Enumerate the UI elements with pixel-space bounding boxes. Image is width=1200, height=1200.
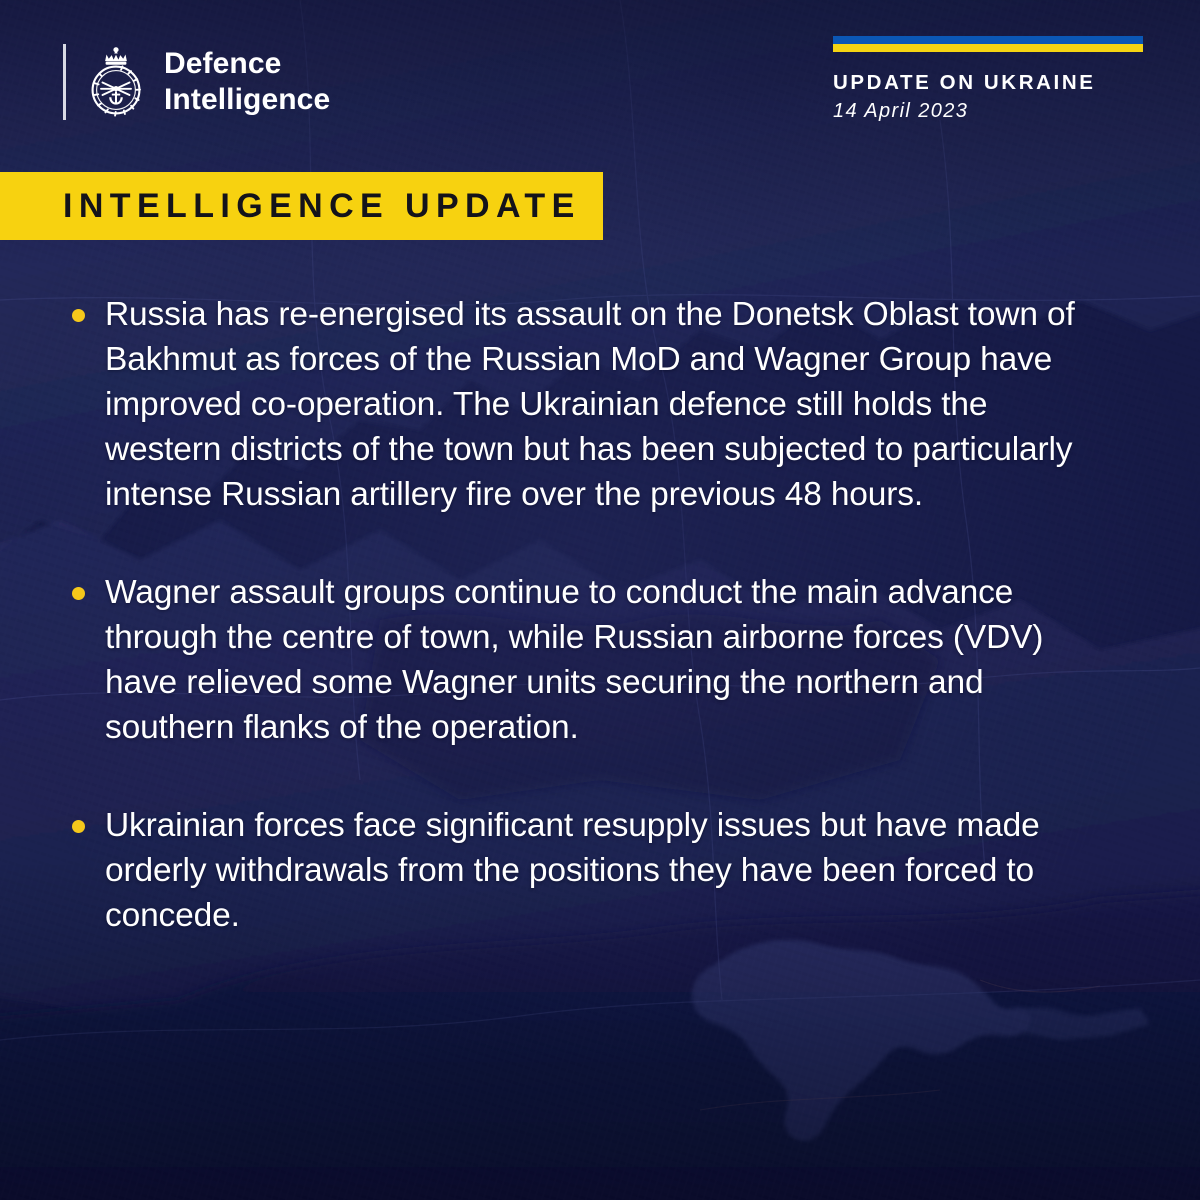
brand-title: Defence Intelligence [164, 46, 330, 118]
list-item: Russia has re-energised its assault on t… [63, 292, 1093, 517]
bullet-text: Wagner assault groups continue to conduc… [105, 570, 1093, 750]
update-kicker: UPDATE ON UKRAINE [833, 70, 1143, 96]
brand-divider [63, 44, 66, 120]
brand-lockup: Defence Intelligence [63, 44, 330, 120]
ukraine-flag-bar [833, 36, 1143, 52]
bullet-dot-icon [72, 587, 85, 600]
bullet-list: Russia has re-energised its assault on t… [63, 292, 1093, 938]
banner-label: INTELLIGENCE UPDATE [63, 189, 581, 223]
bullet-dot-icon [72, 820, 85, 833]
mod-defence-intelligence-crest-icon [85, 44, 147, 120]
flag-stripe-yellow [833, 44, 1143, 52]
intelligence-update-banner: INTELLIGENCE UPDATE [0, 172, 603, 240]
brand-title-line1: Defence [164, 46, 330, 82]
bullet-text: Ukrainian forces face significant resupp… [105, 803, 1093, 938]
update-meta: UPDATE ON UKRAINE 14 April 2023 [833, 36, 1143, 123]
bullet-text: Russia has re-energised its assault on t… [105, 292, 1093, 517]
brand-title-line2: Intelligence [164, 82, 330, 118]
list-item: Ukrainian forces face significant resupp… [63, 803, 1093, 938]
update-date: 14 April 2023 [833, 100, 1143, 123]
bullet-dot-icon [72, 309, 85, 322]
poster-header: Defence Intelligence UPDATE ON UKRAINE 1… [0, 0, 1200, 160]
flag-stripe-blue [833, 36, 1143, 44]
list-item: Wagner assault groups continue to conduc… [63, 570, 1093, 750]
intelligence-update-poster: Defence Intelligence UPDATE ON UKRAINE 1… [0, 0, 1200, 1200]
